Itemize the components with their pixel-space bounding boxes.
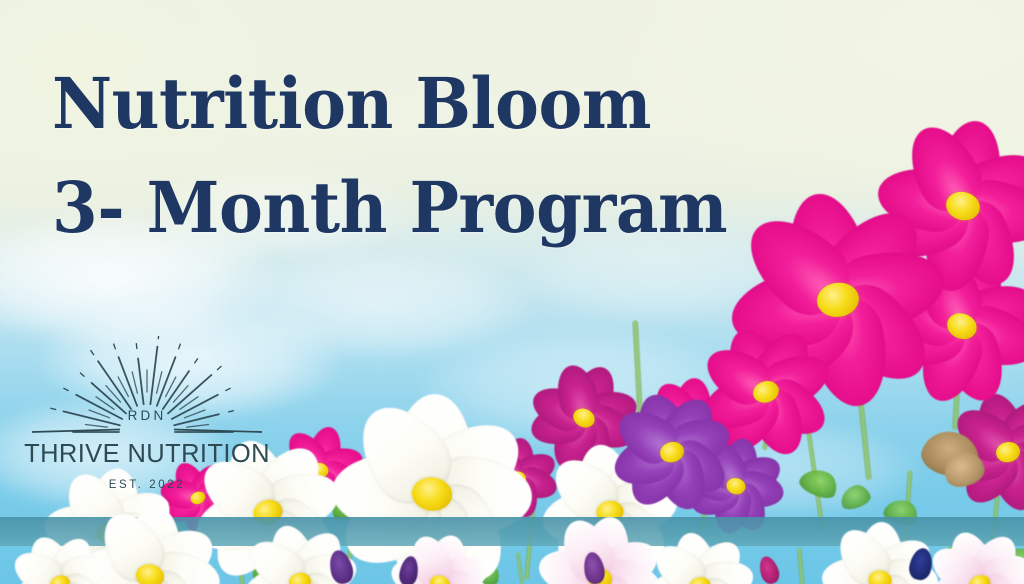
logo-brand-name: THRIVE NUTRITION <box>24 440 270 468</box>
sunburst-rays-icon: RDN THRIVE NUTRITION EST. 2022 <box>24 336 270 504</box>
title-line-1: Nutrition Bloom <box>52 52 727 156</box>
page-title: Nutrition Bloom 3- Month Program <box>52 52 770 259</box>
accent-band <box>0 517 1024 546</box>
logo-monogram: RDN <box>128 408 167 423</box>
title-line-2: 3- Month Program <box>52 156 727 260</box>
banner-canvas: Nutrition Bloom 3- Month Program RDN THR… <box>0 0 1024 584</box>
brand-logo: RDN THRIVE NUTRITION EST. 2022 <box>24 336 270 504</box>
logo-established: EST. 2022 <box>109 479 185 491</box>
